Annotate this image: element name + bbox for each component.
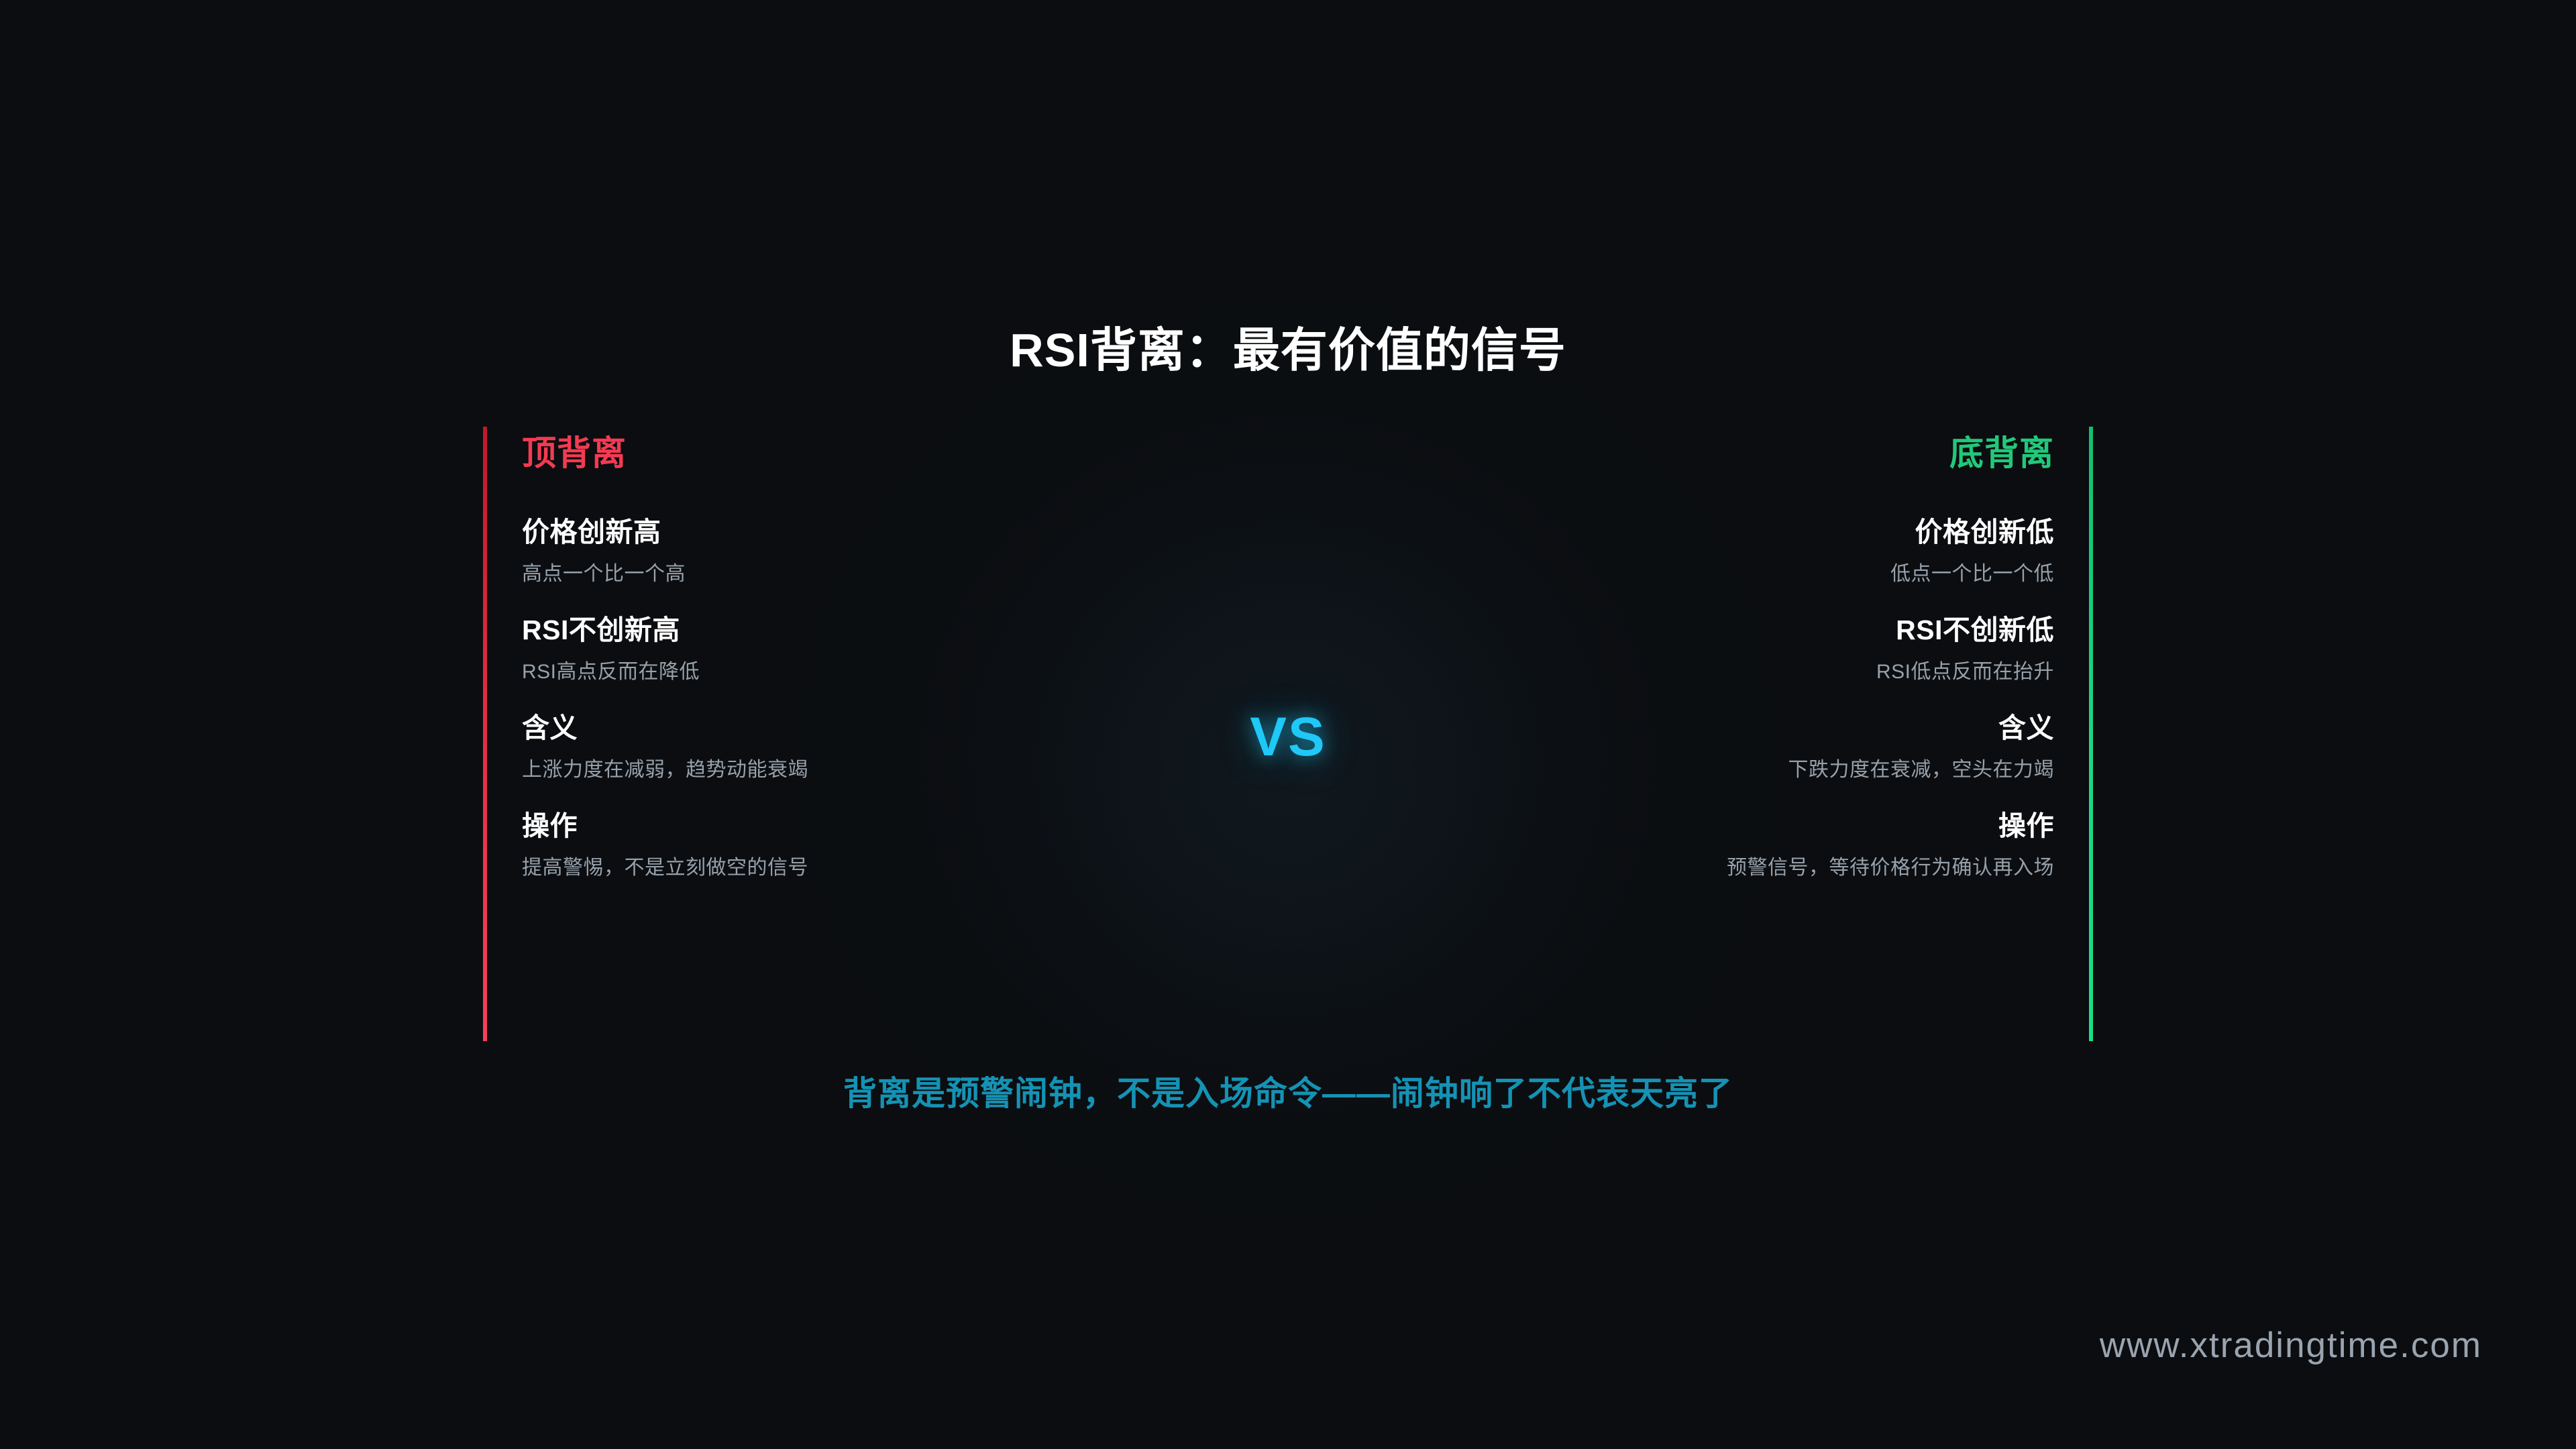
column-heading-bottom-divergence: 底背离 <box>1370 427 2054 470</box>
column-heading-top-divergence: 顶背离 <box>522 427 1206 470</box>
column-bottom-divergence: 底背离 价格创新低 低点一个比一个低 RSI不创新低 RSI低点反而在抬升 含义… <box>1370 427 2054 878</box>
list-item: 价格创新高 高点一个比一个高 <box>522 519 1206 584</box>
versus-badge: VS <box>0 706 2576 769</box>
list-item: RSI不创新低 RSI低点反而在抬升 <box>1370 616 2054 682</box>
row-description: RSI低点反而在抬升 <box>1370 662 2054 682</box>
row-description: RSI高点反而在降低 <box>522 662 1206 682</box>
row-description: 提高警惕，不是立刻做空的信号 <box>522 858 1206 878</box>
list-item: RSI不创新高 RSI高点反而在降低 <box>522 616 1206 682</box>
list-item: 操作 提高警惕，不是立刻做空的信号 <box>522 812 1206 878</box>
page-title: RSI背离：最有价值的信号 <box>0 322 2576 378</box>
tagline: 背离是预警闹钟，不是入场命令——闹钟响了不代表天亮了 <box>0 1067 2576 1115</box>
row-description: 预警信号，等待价格行为确认再入场 <box>1370 858 2054 878</box>
watermark-url: www.xtradingtime.com <box>2100 1325 2482 1366</box>
list-item: 价格创新低 低点一个比一个低 <box>1370 519 2054 584</box>
list-item: 操作 预警信号，等待价格行为确认再入场 <box>1370 812 2054 878</box>
column-top-divergence: 顶背离 价格创新高 高点一个比一个高 RSI不创新高 RSI高点反而在降低 含义… <box>522 427 1206 878</box>
row-term: 价格创新低 <box>1370 519 2054 546</box>
row-description: 高点一个比一个高 <box>522 564 1206 584</box>
row-term: 操作 <box>1370 812 2054 840</box>
row-term: RSI不创新低 <box>1370 616 2054 644</box>
row-term: RSI不创新高 <box>522 616 1206 644</box>
row-term: 操作 <box>522 812 1206 840</box>
row-description: 低点一个比一个低 <box>1370 564 2054 584</box>
slide-canvas: RSI背离：最有价值的信号 顶背离 价格创新高 高点一个比一个高 RSI不创新高… <box>0 0 2576 1449</box>
row-term: 价格创新高 <box>522 519 1206 546</box>
